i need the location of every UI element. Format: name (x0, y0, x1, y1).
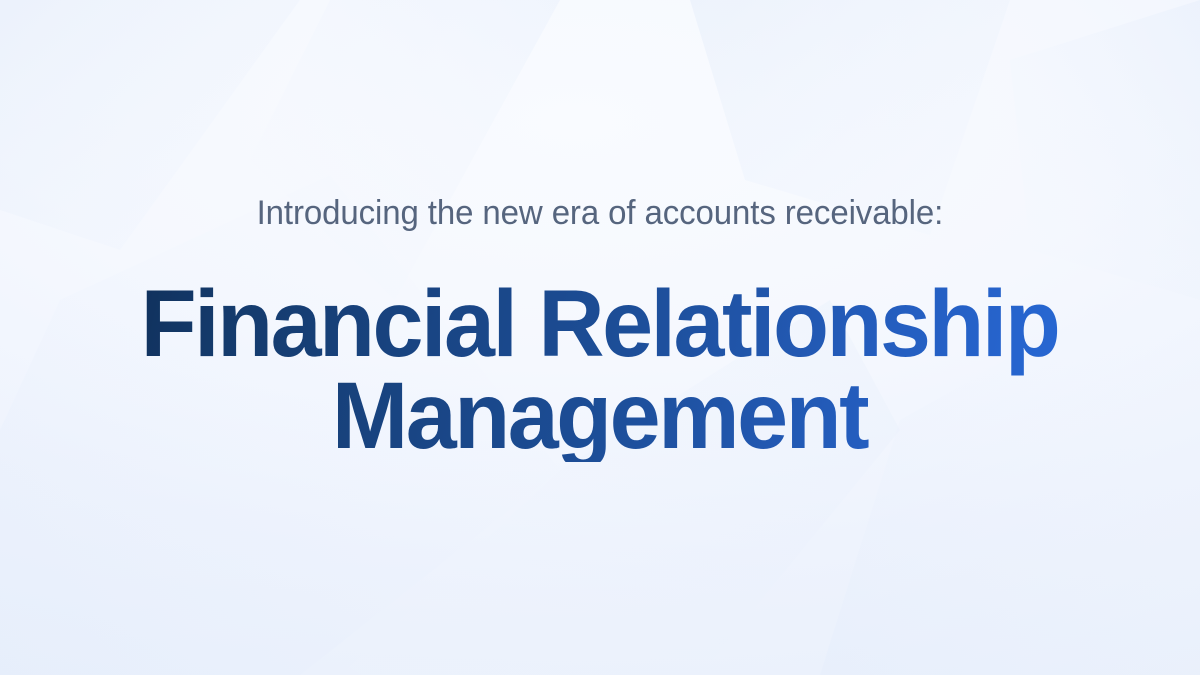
headline-line-2: Management (141, 370, 1059, 462)
hero-content: Introducing the new era of accounts rece… (0, 0, 1200, 675)
eyebrow-text: Introducing the new era of accounts rece… (257, 195, 944, 232)
headline-line-1: Financial Relationship (141, 278, 1059, 370)
hero-slide: Introducing the new era of accounts rece… (0, 0, 1200, 675)
page-title: Financial Relationship Management (141, 278, 1059, 462)
